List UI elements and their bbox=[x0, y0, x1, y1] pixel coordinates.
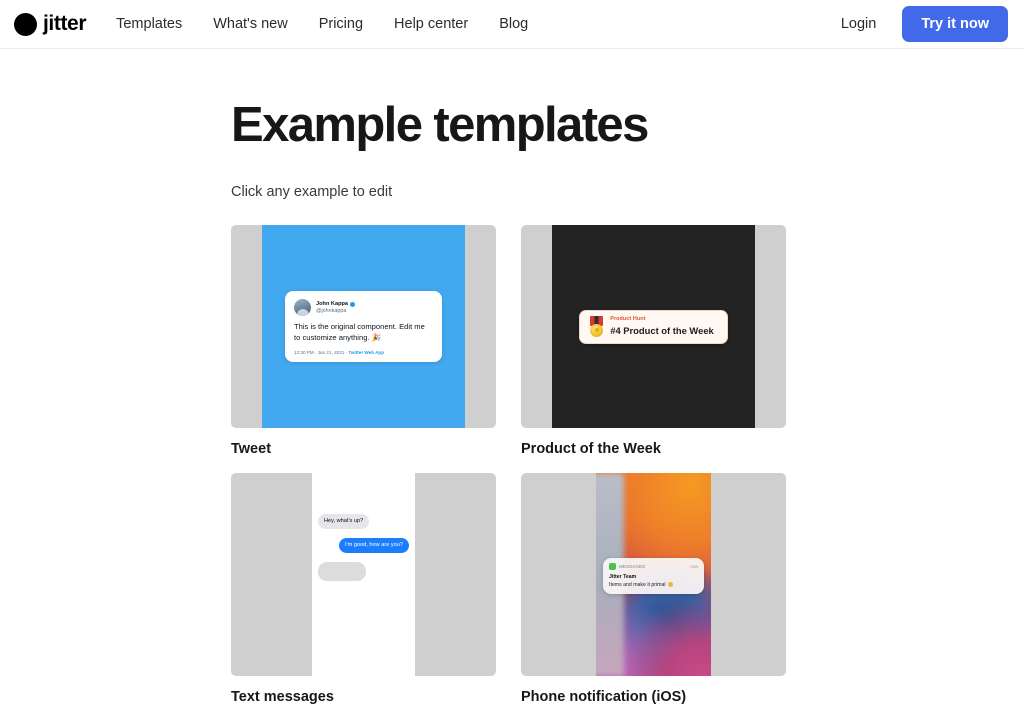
login-link[interactable]: Login bbox=[841, 16, 876, 32]
site-header: jitter Templates What's new Pricing Help… bbox=[0, 0, 1024, 49]
ios-notification-time: now bbox=[690, 564, 698, 569]
jitter-dot-icon bbox=[14, 13, 37, 36]
main-nav: Templates What's new Pricing Help center… bbox=[116, 16, 528, 32]
templates-grid: John Kappa @johnkappa This is the origin… bbox=[231, 225, 1024, 705]
template-label-text-messages: Text messages bbox=[231, 689, 496, 705]
page-subtitle: Click any example to edit bbox=[231, 184, 1024, 200]
ios-notification-message: Items and make it primal bbox=[609, 582, 666, 589]
tweet-body-text: This is the original component. Edit me … bbox=[294, 322, 433, 344]
tweet-author-name: John Kappa bbox=[316, 301, 348, 307]
ios-app-name: MESSAGES bbox=[619, 564, 645, 569]
brand-name: jitter bbox=[43, 12, 86, 36]
template-label-tweet: Tweet bbox=[231, 441, 496, 457]
nav-item-help-center[interactable]: Help center bbox=[394, 16, 468, 32]
tweet-source: Twitter Web App bbox=[348, 350, 384, 355]
nav-item-templates[interactable]: Templates bbox=[116, 16, 182, 32]
brand-logo[interactable]: jitter bbox=[14, 12, 86, 36]
ios-notification-banner: MESSAGES now Jitter Team Items and make … bbox=[603, 558, 704, 594]
nav-item-blog[interactable]: Blog bbox=[499, 16, 528, 32]
template-card-text-messages[interactable]: Hey, what's up? I'm good, how are you? T… bbox=[231, 473, 496, 705]
template-label-phone-notification: Phone notification (iOS) bbox=[521, 689, 786, 705]
ios-notification-body: Items and make it primal bbox=[609, 582, 698, 589]
message-bubble-placeholder bbox=[318, 562, 366, 581]
header-actions: Login Try it now bbox=[841, 6, 1008, 42]
tweet-card: John Kappa @johnkappa This is the origin… bbox=[285, 291, 442, 362]
template-card-tweet[interactable]: John Kappa @johnkappa This is the origin… bbox=[231, 225, 496, 457]
product-hunt-kicker: Product Hunt bbox=[610, 316, 714, 322]
tweet-timestamp: 12:30 PM · Jan 21, 2021 · bbox=[294, 350, 348, 355]
ios-notification-title: Jitter Team bbox=[609, 574, 698, 581]
try-it-now-button[interactable]: Try it now bbox=[902, 6, 1008, 42]
app-icon bbox=[609, 563, 616, 570]
message-bubble-outgoing: I'm good, how are you? bbox=[339, 538, 409, 553]
page-content: Example templates Click any example to e… bbox=[0, 101, 1024, 705]
tweet-header: John Kappa @johnkappa bbox=[294, 299, 433, 316]
message-bubble-incoming: Hey, what's up? bbox=[318, 514, 369, 529]
tweet-author-handle: @johnkappa bbox=[316, 308, 355, 314]
medal-disc bbox=[590, 324, 603, 337]
emoji-icon bbox=[668, 582, 673, 587]
tweet-identity: John Kappa @johnkappa bbox=[316, 301, 355, 314]
text-messages-stage: Hey, what's up? I'm good, how are you? bbox=[312, 473, 415, 676]
ios-wallpaper-stage: MESSAGES now Jitter Team Items and make … bbox=[596, 473, 711, 676]
template-label-product-of-the-week: Product of the Week bbox=[521, 441, 786, 457]
text-messages-preview[interactable]: Hey, what's up? I'm good, how are you? bbox=[231, 473, 496, 676]
template-card-product-of-the-week[interactable]: Product Hunt #4 Product of the Week Prod… bbox=[521, 225, 786, 457]
product-hunt-preview[interactable]: Product Hunt #4 Product of the Week bbox=[521, 225, 786, 428]
page-title: Example templates bbox=[231, 101, 1024, 150]
product-hunt-texts: Product Hunt #4 Product of the Week bbox=[610, 316, 714, 336]
medal-icon bbox=[589, 316, 604, 337]
template-card-phone-notification[interactable]: MESSAGES now Jitter Team Items and make … bbox=[521, 473, 786, 705]
avatar bbox=[294, 299, 311, 316]
verified-badge-icon bbox=[350, 302, 355, 307]
ios-notification-header: MESSAGES now bbox=[609, 563, 698, 570]
tweet-meta: 12:30 PM · Jan 21, 2021 · Twitter Web Ap… bbox=[294, 350, 433, 355]
product-hunt-stage: Product Hunt #4 Product of the Week bbox=[552, 225, 755, 428]
tweet-stage: John Kappa @johnkappa This is the origin… bbox=[262, 225, 465, 428]
product-hunt-badge-card: Product Hunt #4 Product of the Week bbox=[579, 310, 728, 344]
phone-notification-preview[interactable]: MESSAGES now Jitter Team Items and make … bbox=[521, 473, 786, 676]
tweet-preview[interactable]: John Kappa @johnkappa This is the origin… bbox=[231, 225, 496, 428]
nav-item-whats-new[interactable]: What's new bbox=[213, 16, 288, 32]
nav-item-pricing[interactable]: Pricing bbox=[319, 16, 363, 32]
product-hunt-title: #4 Product of the Week bbox=[610, 325, 714, 336]
